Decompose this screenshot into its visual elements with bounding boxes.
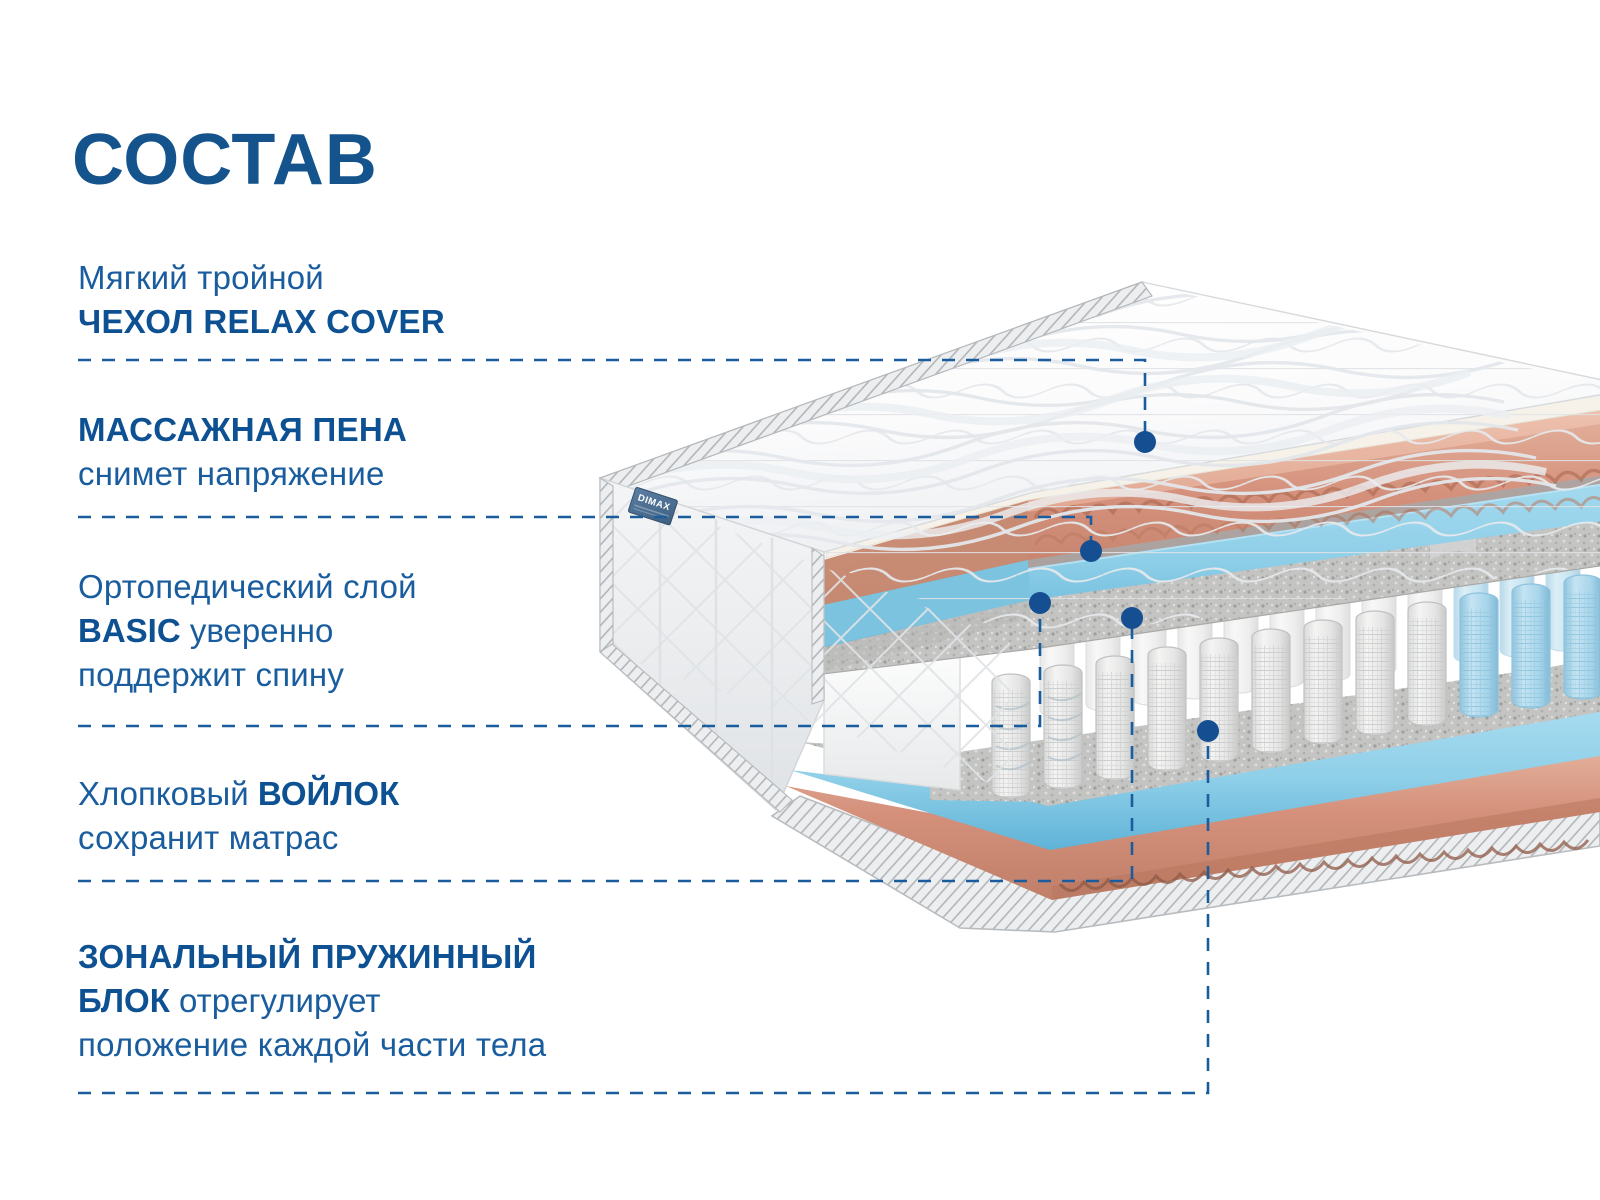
mattress-illustration: DIMAX [0,0,1600,1200]
cover-side-piping-left [600,478,613,660]
connector-dot-cover [1134,431,1156,453]
connector-dot-felt [1121,607,1143,629]
mattress-body: DIMAX [560,270,1600,932]
cover-corner-piping [812,548,824,704]
connector-dot-basic [1029,592,1051,614]
connector-dot-foam [1080,540,1102,562]
infographic-canvas: СОСТАВ Мягкий тройной ЧЕХОЛ RELAX COVER … [0,0,1600,1200]
connector-dot-spring [1197,720,1219,742]
